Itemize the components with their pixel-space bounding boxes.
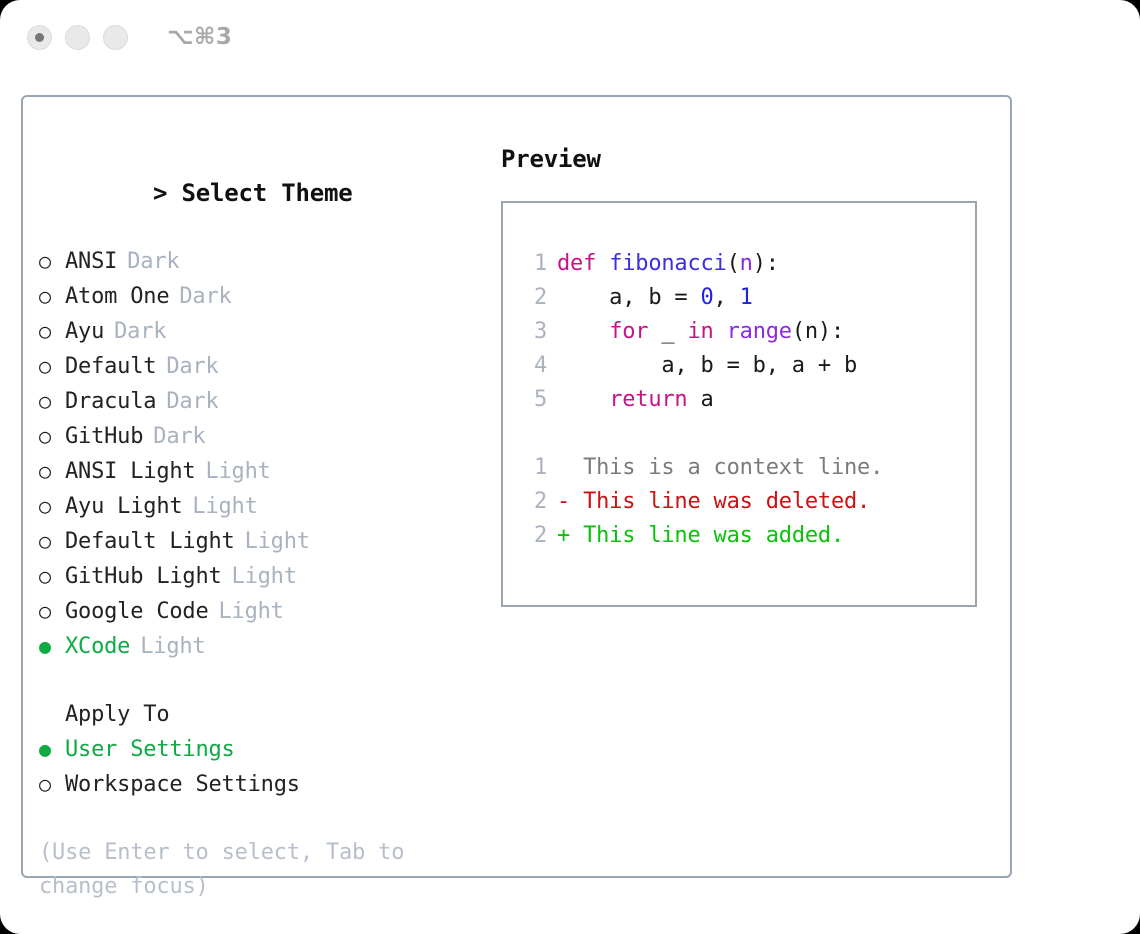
code-token-num: 1 bbox=[740, 285, 753, 310]
theme-option-kind-badge: Light bbox=[209, 595, 284, 629]
code-token-fn: fibonacci bbox=[609, 251, 726, 276]
select-theme-heading-label bbox=[167, 179, 181, 207]
theme-option-kind-badge: Dark bbox=[104, 315, 166, 349]
code-token-punct: ): bbox=[753, 251, 779, 276]
theme-option-kind-badge: Dark bbox=[117, 245, 179, 279]
radio-unselected-icon: ○ bbox=[39, 489, 65, 523]
theme-option-label: XCode bbox=[65, 630, 130, 664]
preview-column: Preview 1def fibonacci(n):2 a, b = 0, 13… bbox=[501, 142, 981, 607]
window-minimize-button[interactable] bbox=[65, 25, 90, 50]
theme-option-atom-one[interactable]: ○Atom OneDark bbox=[39, 279, 489, 314]
theme-option-github-light[interactable]: ○GitHub LightLight bbox=[39, 559, 489, 594]
diff-marker bbox=[557, 455, 570, 480]
radio-unselected-icon: ○ bbox=[39, 454, 65, 488]
code-line: 3 for _ in range(n): bbox=[519, 315, 975, 349]
traffic-light-group bbox=[27, 25, 128, 50]
theme-option-label: Dracula bbox=[65, 385, 156, 419]
radio-unselected-icon: ○ bbox=[39, 594, 65, 628]
diff-sample-block: 1 This is a context line.2- This line wa… bbox=[519, 451, 975, 553]
theme-option-kind-badge: Dark bbox=[143, 420, 205, 454]
radio-unselected-icon: ○ bbox=[39, 384, 65, 418]
apply-to-option-user-settings[interactable]: ●User Settings bbox=[39, 732, 489, 767]
theme-option-label: GitHub Light bbox=[65, 560, 222, 594]
theme-option-label: Ayu bbox=[65, 315, 104, 349]
theme-option-kind-badge: Dark bbox=[169, 280, 231, 314]
theme-option-kind-badge: Dark bbox=[156, 385, 218, 419]
apply-to-heading: Apply To bbox=[39, 698, 489, 732]
theme-option-label: Default bbox=[65, 350, 156, 384]
code-sample-block: 1def fibonacci(n):2 a, b = 0, 13 for _ i… bbox=[519, 247, 975, 417]
radio-unselected-icon: ○ bbox=[39, 349, 65, 383]
code-diff-spacer bbox=[519, 417, 975, 451]
prompt-caret-icon: > bbox=[153, 179, 167, 207]
code-token-plain: _ bbox=[648, 319, 687, 344]
code-token-builtin: range bbox=[727, 319, 792, 344]
keyboard-hint-text: (Use Enter to select, Tab to change focu… bbox=[39, 836, 439, 904]
code-token-plain bbox=[557, 319, 609, 344]
theme-option-xcode[interactable]: ●XCodeLight bbox=[39, 629, 489, 664]
code-token-plain: , bbox=[714, 285, 740, 310]
radio-unselected-icon: ○ bbox=[39, 419, 65, 453]
diff-line: 2- This line was deleted. bbox=[519, 485, 975, 519]
diff-line-body: This is a context line. bbox=[570, 455, 883, 480]
code-line-number: 1 bbox=[519, 247, 547, 281]
radio-unselected-icon: ○ bbox=[39, 279, 65, 313]
diff-line: 2+ This line was added. bbox=[519, 519, 975, 553]
select-theme-title: Select Theme bbox=[182, 179, 353, 207]
code-token-plain: a, b = b, a + b bbox=[557, 353, 857, 378]
theme-option-label: Google Code bbox=[65, 595, 209, 629]
theme-option-default-light[interactable]: ○Default LightLight bbox=[39, 524, 489, 559]
diff-line: 1 This is a context line. bbox=[519, 451, 975, 485]
code-token-plain bbox=[596, 251, 609, 276]
radio-unselected-icon: ○ bbox=[39, 314, 65, 348]
apply-to-option-label: Workspace Settings bbox=[65, 768, 300, 802]
keyboard-shortcut-label: ⌥⌘3 bbox=[167, 24, 232, 50]
theme-option-kind-badge: Light bbox=[195, 455, 270, 489]
active-window-indicator-dot bbox=[35, 33, 44, 42]
code-line-number: 2 bbox=[519, 281, 547, 315]
code-token-punct: ( bbox=[727, 251, 740, 276]
code-token-param: n bbox=[740, 251, 753, 276]
app-window: ⌥⌘3 > Select Theme ○ANSIDark○Atom OneDar… bbox=[0, 0, 1140, 934]
diff-line-body: This line was deleted. bbox=[570, 489, 870, 514]
theme-option-kind-badge: Dark bbox=[156, 350, 218, 384]
radio-unselected-icon: ○ bbox=[39, 767, 65, 801]
code-line-text: return a bbox=[547, 383, 714, 417]
code-line-number: 3 bbox=[519, 315, 547, 349]
radio-unselected-icon: ○ bbox=[39, 524, 65, 558]
preview-heading: Preview bbox=[501, 142, 981, 176]
code-token-kw: return bbox=[609, 387, 687, 412]
select-theme-heading: > Select Theme bbox=[39, 142, 489, 244]
apply-to-option-list: ●User Settings○Workspace Settings bbox=[39, 732, 489, 802]
theme-option-ansi[interactable]: ○ANSIDark bbox=[39, 244, 489, 279]
theme-option-label: ANSI Light bbox=[65, 455, 195, 489]
theme-apply-spacer bbox=[39, 664, 489, 698]
diff-marker: - bbox=[557, 489, 570, 514]
theme-option-kind-badge: Light bbox=[182, 490, 257, 524]
code-token-plain bbox=[714, 319, 727, 344]
code-line-text: a, b = 0, 1 bbox=[547, 281, 753, 315]
theme-option-kind-badge: Light bbox=[130, 630, 205, 664]
code-token-num: 0 bbox=[701, 285, 714, 310]
radio-selected-icon: ● bbox=[39, 629, 65, 663]
apply-to-option-label: User Settings bbox=[65, 733, 235, 767]
main-panel: > Select Theme ○ANSIDark○Atom OneDark○Ay… bbox=[21, 95, 1012, 878]
theme-option-label: ANSI bbox=[65, 245, 117, 279]
diff-line-text: This is a context line. bbox=[547, 451, 883, 485]
code-line-text: a, b = b, a + b bbox=[547, 349, 857, 383]
code-line: 5 return a bbox=[519, 383, 975, 417]
code-token-kw: in bbox=[687, 319, 713, 344]
title-bar: ⌥⌘3 bbox=[0, 0, 1140, 78]
code-token-kw: for bbox=[609, 319, 648, 344]
diff-line-text: + This line was added. bbox=[547, 519, 844, 553]
theme-option-kind-badge: Light bbox=[222, 560, 297, 594]
code-token-kw: def bbox=[557, 251, 596, 276]
radio-selected-icon: ● bbox=[39, 732, 65, 766]
theme-option-default[interactable]: ○DefaultDark bbox=[39, 349, 489, 384]
diff-marker: + bbox=[557, 523, 570, 548]
code-token-plain: a bbox=[687, 387, 713, 412]
diff-line-number: 1 bbox=[519, 451, 547, 485]
code-line: 4 a, b = b, a + b bbox=[519, 349, 975, 383]
theme-option-label: GitHub bbox=[65, 420, 143, 454]
theme-option-ayu[interactable]: ○AyuDark bbox=[39, 314, 489, 349]
diff-line-number: 2 bbox=[519, 485, 547, 519]
diff-line-body: This line was added. bbox=[570, 523, 844, 548]
theme-option-ansi-light[interactable]: ○ANSI LightLight bbox=[39, 454, 489, 489]
code-line-text: for _ in range(n): bbox=[547, 315, 844, 349]
code-line: 2 a, b = 0, 1 bbox=[519, 281, 975, 315]
radio-unselected-icon: ○ bbox=[39, 559, 65, 593]
window-close-button[interactable] bbox=[27, 25, 52, 50]
diff-line-number: 2 bbox=[519, 519, 547, 553]
code-token-plain: a, b = bbox=[557, 285, 701, 310]
theme-option-list: ○ANSIDark○Atom OneDark○AyuDark○DefaultDa… bbox=[39, 244, 489, 664]
code-line-text: def fibonacci(n): bbox=[547, 247, 779, 281]
code-line-number: 5 bbox=[519, 383, 547, 417]
theme-option-google-code[interactable]: ○Google CodeLight bbox=[39, 594, 489, 629]
window-zoom-button[interactable] bbox=[103, 25, 128, 50]
diff-line-text: - This line was deleted. bbox=[547, 485, 870, 519]
theme-option-label: Default Light bbox=[65, 525, 235, 559]
theme-option-dracula[interactable]: ○DraculaDark bbox=[39, 384, 489, 419]
theme-option-ayu-light[interactable]: ○Ayu LightLight bbox=[39, 489, 489, 524]
radio-unselected-icon: ○ bbox=[39, 244, 65, 278]
code-token-punct: (n): bbox=[792, 319, 844, 344]
code-line-number: 4 bbox=[519, 349, 547, 383]
theme-option-label: Atom One bbox=[65, 280, 169, 314]
theme-selection-column: > Select Theme ○ANSIDark○Atom OneDark○Ay… bbox=[39, 142, 489, 904]
preview-box: 1def fibonacci(n):2 a, b = 0, 13 for _ i… bbox=[501, 201, 977, 607]
apply-to-option-workspace-settings[interactable]: ○Workspace Settings bbox=[39, 767, 489, 802]
theme-option-kind-badge: Light bbox=[235, 525, 310, 559]
code-line: 1def fibonacci(n): bbox=[519, 247, 975, 281]
theme-option-label: Ayu Light bbox=[65, 490, 182, 524]
theme-option-github[interactable]: ○GitHubDark bbox=[39, 419, 489, 454]
code-token-plain bbox=[557, 387, 609, 412]
